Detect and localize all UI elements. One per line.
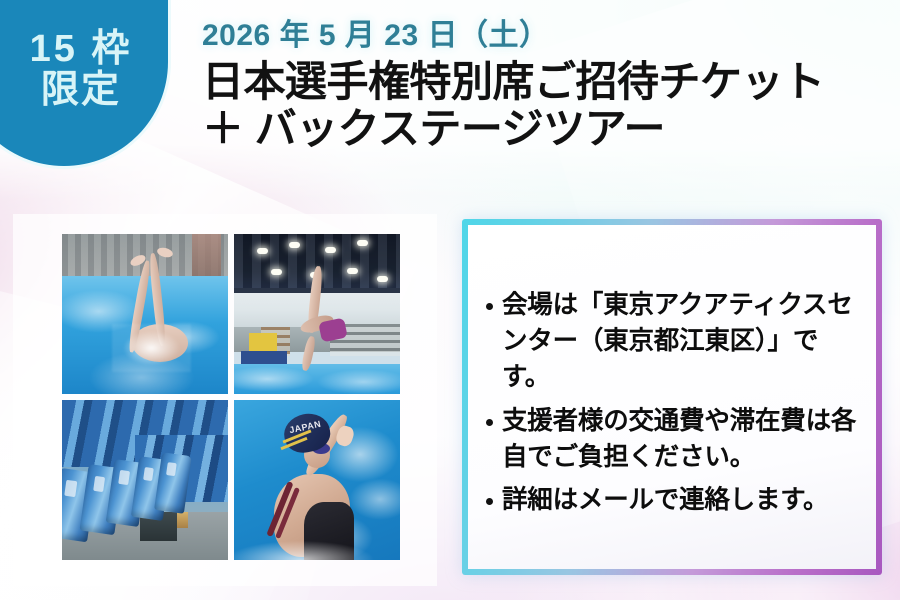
photo2-ceiling-light — [357, 240, 368, 246]
bullet-dot-icon — [486, 419, 493, 426]
badge-line-count: 15 枠 — [30, 29, 133, 70]
badge-line-limited: 限定 — [41, 70, 121, 111]
photo2-ceiling-light — [271, 269, 282, 275]
promo-banner: 15 枠 限定 2026 年 5 月 23 日（土） 日本選手権特別席ご招待チケ… — [0, 0, 900, 600]
page-title: 日本選手権特別席ご招待チケット — [202, 58, 892, 107]
info-bullet-venue: 会場は「東京アクアティクスセンター（東京都江東区）」です。 — [502, 287, 860, 396]
bullet-dot-icon — [486, 498, 493, 505]
photo-artistic-swimmer-legs — [62, 234, 228, 394]
photo-grid: JAPAN — [62, 234, 400, 566]
photo-poolside-training — [234, 234, 400, 394]
list-item: 詳細はメールで連絡します。 — [486, 482, 860, 518]
page-subtitle: ＋ バックステージツアー — [202, 105, 892, 154]
list-item: 支援者様の交通費や滞在費は各自でご負担ください。 — [486, 403, 860, 475]
header-text-block: 2026 年 5 月 23 日（土） 日本選手権特別席ご招待チケット ＋ バック… — [202, 18, 892, 153]
photo2-ceiling-light — [325, 247, 336, 253]
photo2-ceiling-light — [347, 268, 358, 274]
event-date: 2026 年 5 月 23 日（土） — [202, 18, 892, 54]
photo2-ceiling-light — [257, 248, 268, 254]
info-bullet-expenses: 支援者様の交通費や滞在費は各自でご負担ください。 — [502, 403, 860, 475]
list-item: 会場は「東京アクアティクスセンター（東京都江東区）」です。 — [486, 287, 860, 396]
info-bullet-contact: 詳細はメールで連絡します。 — [502, 482, 828, 518]
photo1-splash — [112, 324, 192, 372]
photo2-pool — [234, 364, 400, 394]
photo4-foam — [234, 534, 400, 560]
photo2-blue-mat — [241, 351, 287, 364]
banner-header: 15 枠 限定 2026 年 5 月 23 日（土） 日本選手権特別席ご招待チケ… — [0, 0, 900, 200]
info-box-inner: 会場は「東京アクアティクスセンター（東京都江東区）」です。 支援者様の交通費や滞… — [468, 225, 876, 569]
photo2-ceiling-light — [289, 242, 300, 248]
photo2-ceiling-light — [377, 276, 388, 282]
photo2-yellow-mat — [249, 333, 277, 351]
bullet-dot-icon — [486, 303, 493, 310]
photo-swimmer-japan-cap: JAPAN — [234, 400, 400, 560]
photo-stadium-seats — [62, 400, 228, 560]
info-box: 会場は「東京アクアティクスセンター（東京都江東区）」です。 支援者様の交通費や滞… — [462, 219, 882, 575]
